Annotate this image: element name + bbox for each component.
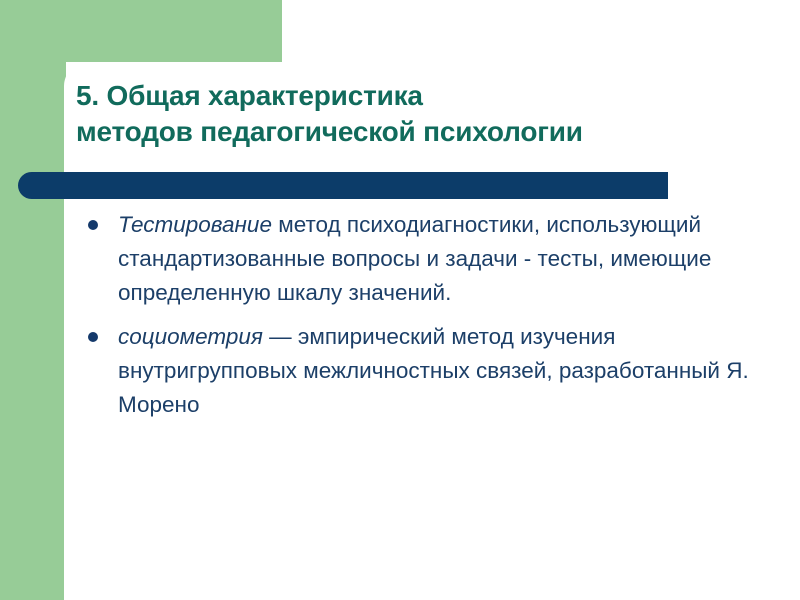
list-item-lead-term: социометрия xyxy=(118,324,263,349)
slide: 5. Общая характеристика методов педагоги… xyxy=(0,0,800,600)
page-title: 5. Общая характеристика методов педагоги… xyxy=(76,78,776,150)
list-item-text: социометрия — эмпирический метод изучени… xyxy=(118,320,774,422)
list-item: Тестирование метод психодиагностики, исп… xyxy=(84,208,774,310)
green-header-block xyxy=(0,0,282,62)
bullet-dot-icon xyxy=(88,332,98,342)
page-title-line-2: методов педагогической психологии xyxy=(76,114,776,150)
bullet-list: Тестирование метод психодиагностики, исп… xyxy=(84,208,774,432)
list-item-text: Тестирование метод психодиагностики, исп… xyxy=(118,208,774,310)
green-side-band xyxy=(0,0,66,600)
bullet-dot-icon xyxy=(88,220,98,230)
title-divider-bar xyxy=(18,172,668,199)
list-item-lead-term: Тестирование xyxy=(118,212,272,237)
page-title-line-1: 5. Общая характеристика xyxy=(76,78,776,114)
list-item: социометрия — эмпирический метод изучени… xyxy=(84,320,774,422)
